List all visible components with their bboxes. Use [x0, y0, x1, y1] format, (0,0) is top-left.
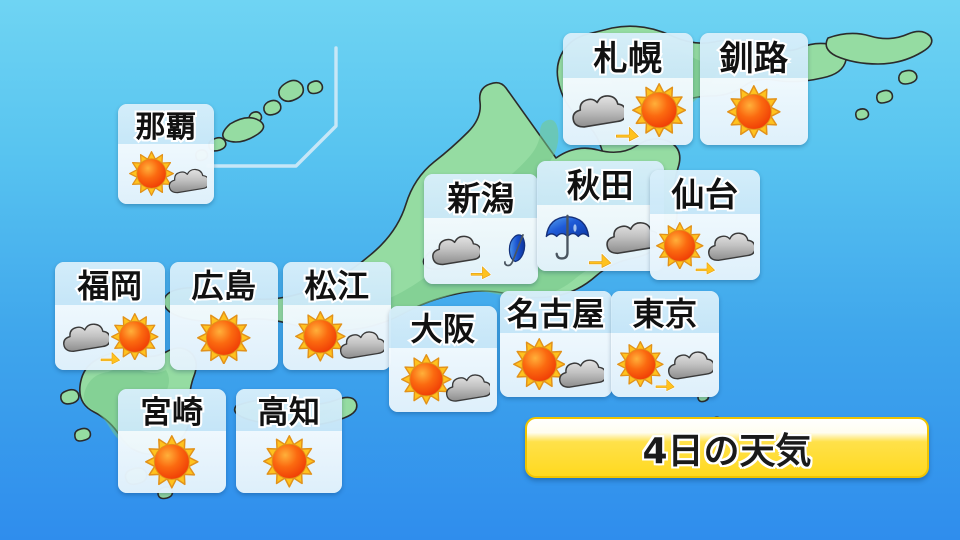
city-name: 札幌	[594, 33, 663, 80]
city-card-body	[236, 431, 342, 493]
transition-arrow-icon	[654, 375, 676, 393]
city-name: 釧路	[720, 33, 789, 80]
city-card-body	[424, 218, 538, 284]
transition-arrow-icon	[99, 348, 121, 366]
weather-icons	[170, 305, 278, 370]
weather-icons	[700, 78, 808, 145]
city-card-niigata[interactable]: 新潟	[424, 174, 538, 284]
city-card-header: 高知	[236, 389, 342, 431]
city-card-body	[118, 431, 226, 493]
city-card-miyazaki[interactable]: 宮崎	[118, 389, 226, 493]
city-card-kushiro[interactable]: 釧路	[700, 33, 808, 145]
city-card-nagoya[interactable]: 名古屋	[500, 291, 612, 397]
city-card-body	[650, 214, 760, 280]
city-card-sapporo[interactable]: 札幌	[563, 33, 693, 145]
city-card-body	[500, 333, 612, 397]
city-card-osaka[interactable]: 大阪	[389, 306, 497, 412]
city-card-body	[283, 305, 391, 370]
weather-icons	[118, 431, 226, 493]
city-name: 東京	[632, 291, 697, 335]
cloud-icon	[338, 327, 384, 361]
city-name: 名古屋	[507, 291, 605, 335]
city-name: 新潟	[448, 174, 515, 220]
city-card-body	[563, 78, 693, 145]
city-card-akita[interactable]: 秋田	[537, 161, 664, 271]
sun-icon	[263, 435, 316, 488]
ryukyu-islands	[196, 80, 323, 160]
city-name: 秋田	[567, 161, 634, 207]
cloud-icon	[444, 370, 490, 404]
city-card-header: 広島	[170, 262, 278, 305]
city-card-body	[700, 78, 808, 145]
city-card-header: 札幌	[563, 33, 693, 78]
weather-icons	[389, 348, 497, 412]
city-card-body	[170, 305, 278, 370]
city-card-tokyo[interactable]: 東京	[611, 291, 719, 397]
city-card-header: 大阪	[389, 306, 497, 348]
city-name: 福岡	[77, 262, 142, 307]
city-card-header: 釧路	[700, 33, 808, 78]
sun-icon	[197, 311, 251, 365]
city-card-body	[537, 205, 664, 271]
weather-icons	[283, 305, 391, 370]
city-card-sendai[interactable]: 仙台	[650, 170, 760, 280]
sun-icon	[727, 85, 781, 139]
city-card-body	[118, 144, 214, 204]
weather-icons	[537, 205, 664, 271]
city-card-fukuoka[interactable]: 福岡	[55, 262, 165, 370]
banner-title: 4日の天気	[642, 422, 811, 474]
title-banner: 4日の天気	[525, 417, 929, 478]
city-card-header: 松江	[283, 262, 391, 305]
transition-arrow-icon	[587, 249, 612, 270]
city-name: 仙台	[672, 170, 739, 216]
city-card-body	[389, 348, 497, 412]
city-name: 大阪	[410, 306, 475, 350]
city-card-kochi[interactable]: 高知	[236, 389, 342, 493]
city-card-header: 那覇	[118, 104, 214, 144]
city-card-naha[interactable]: 那覇	[118, 104, 214, 204]
city-card-body	[55, 305, 165, 370]
city-card-hiroshima[interactable]: 広島	[170, 262, 278, 370]
transition-arrow-icon	[469, 262, 492, 281]
city-card-header: 新潟	[424, 174, 538, 218]
transition-arrow-icon	[614, 122, 640, 143]
umbrella-icon	[544, 212, 591, 261]
city-card-header: 宮崎	[118, 389, 226, 431]
sun-icon	[145, 435, 199, 489]
closed-umbrella-icon	[503, 233, 532, 267]
weather-icons	[236, 431, 342, 493]
city-name: 宮崎	[141, 389, 204, 432]
city-name: 那覇	[136, 104, 197, 146]
cloud-icon	[557, 355, 604, 390]
city-name: 高知	[258, 389, 321, 432]
city-name: 松江	[304, 262, 369, 307]
city-card-header: 仙台	[650, 170, 760, 214]
weather-icons	[500, 333, 612, 397]
transition-arrow-icon	[694, 258, 716, 276]
city-card-header: 秋田	[537, 161, 664, 205]
city-name: 広島	[191, 262, 256, 307]
city-card-header: 東京	[611, 291, 719, 333]
weather-icons	[611, 333, 719, 397]
weather-icons	[650, 214, 760, 280]
weather-map-screen: 那覇 札幌 釧路 新潟	[0, 0, 960, 540]
weather-icons	[424, 218, 538, 284]
city-card-matsue[interactable]: 松江	[283, 262, 391, 370]
weather-icons	[55, 305, 165, 370]
city-card-header: 福岡	[55, 262, 165, 305]
weather-icons	[563, 78, 693, 145]
city-card-body	[611, 333, 719, 397]
weather-icons	[118, 144, 214, 204]
cloud-icon	[167, 165, 208, 195]
city-card-header: 名古屋	[500, 291, 612, 333]
